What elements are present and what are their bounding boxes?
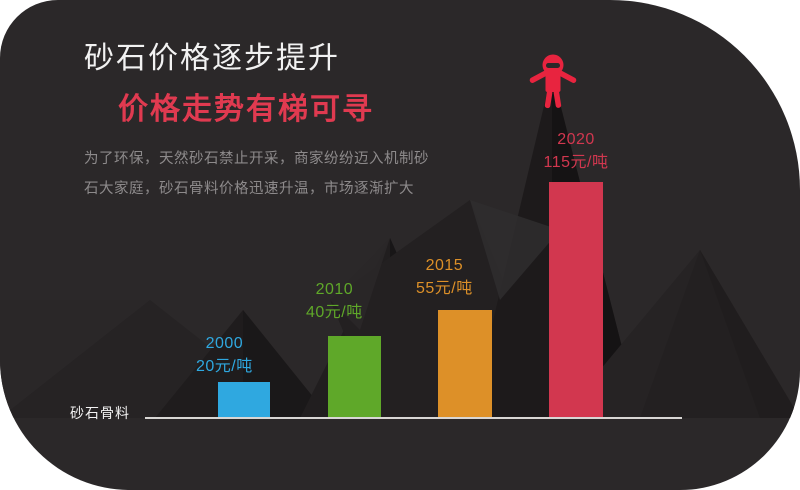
bar-label-2020: 2020 115元/吨 (522, 128, 630, 174)
figure-leg-right (553, 90, 561, 109)
bar-2000[interactable] (218, 382, 270, 418)
description-paragraph: 为了环保，天然砂石禁止开采，商家纷纷迈入机制砂石大家庭，砂石骨料价格迅速升温，市… (84, 144, 434, 204)
infographic-canvas: 砂石价格逐步提升 价格走势有梯可寻 为了环保，天然砂石禁止开采，商家纷纷迈入机制… (0, 0, 800, 490)
bar-price-2020: 115元/吨 (522, 151, 630, 174)
axis-label: 砂石骨料 (70, 403, 130, 423)
bar-year-2010: 2010 (306, 278, 363, 301)
bar-year-2020: 2020 (522, 128, 630, 151)
bar-price-2000: 20元/吨 (196, 355, 253, 378)
axis-line (145, 417, 682, 419)
page-title: 砂石价格逐步提升 (84, 33, 340, 77)
infographic-card: 砂石价格逐步提升 价格走势有梯可寻 为了环保，天然砂石禁止开采，商家纷纷迈入机制… (0, 0, 800, 490)
bar-label-2010: 2010 40元/吨 (306, 278, 363, 324)
bar-year-2000: 2000 (196, 332, 253, 355)
figure-leg-left (544, 90, 552, 109)
bar-price-2010: 40元/吨 (306, 301, 363, 324)
bar-2010[interactable] (328, 336, 381, 418)
bar-2015[interactable] (438, 310, 492, 418)
celebrating-person-icon (527, 52, 579, 110)
bar-price-2015: 55元/吨 (416, 277, 473, 300)
figure-torso (546, 74, 561, 92)
figure-face-slot (546, 63, 560, 68)
bar-label-2000: 2000 20元/吨 (196, 332, 253, 378)
page-subtitle: 价格走势有梯可寻 (118, 84, 374, 128)
bar-2020[interactable] (549, 182, 603, 418)
bar-label-2015: 2015 55元/吨 (416, 254, 473, 300)
bar-year-2015: 2015 (416, 254, 473, 277)
